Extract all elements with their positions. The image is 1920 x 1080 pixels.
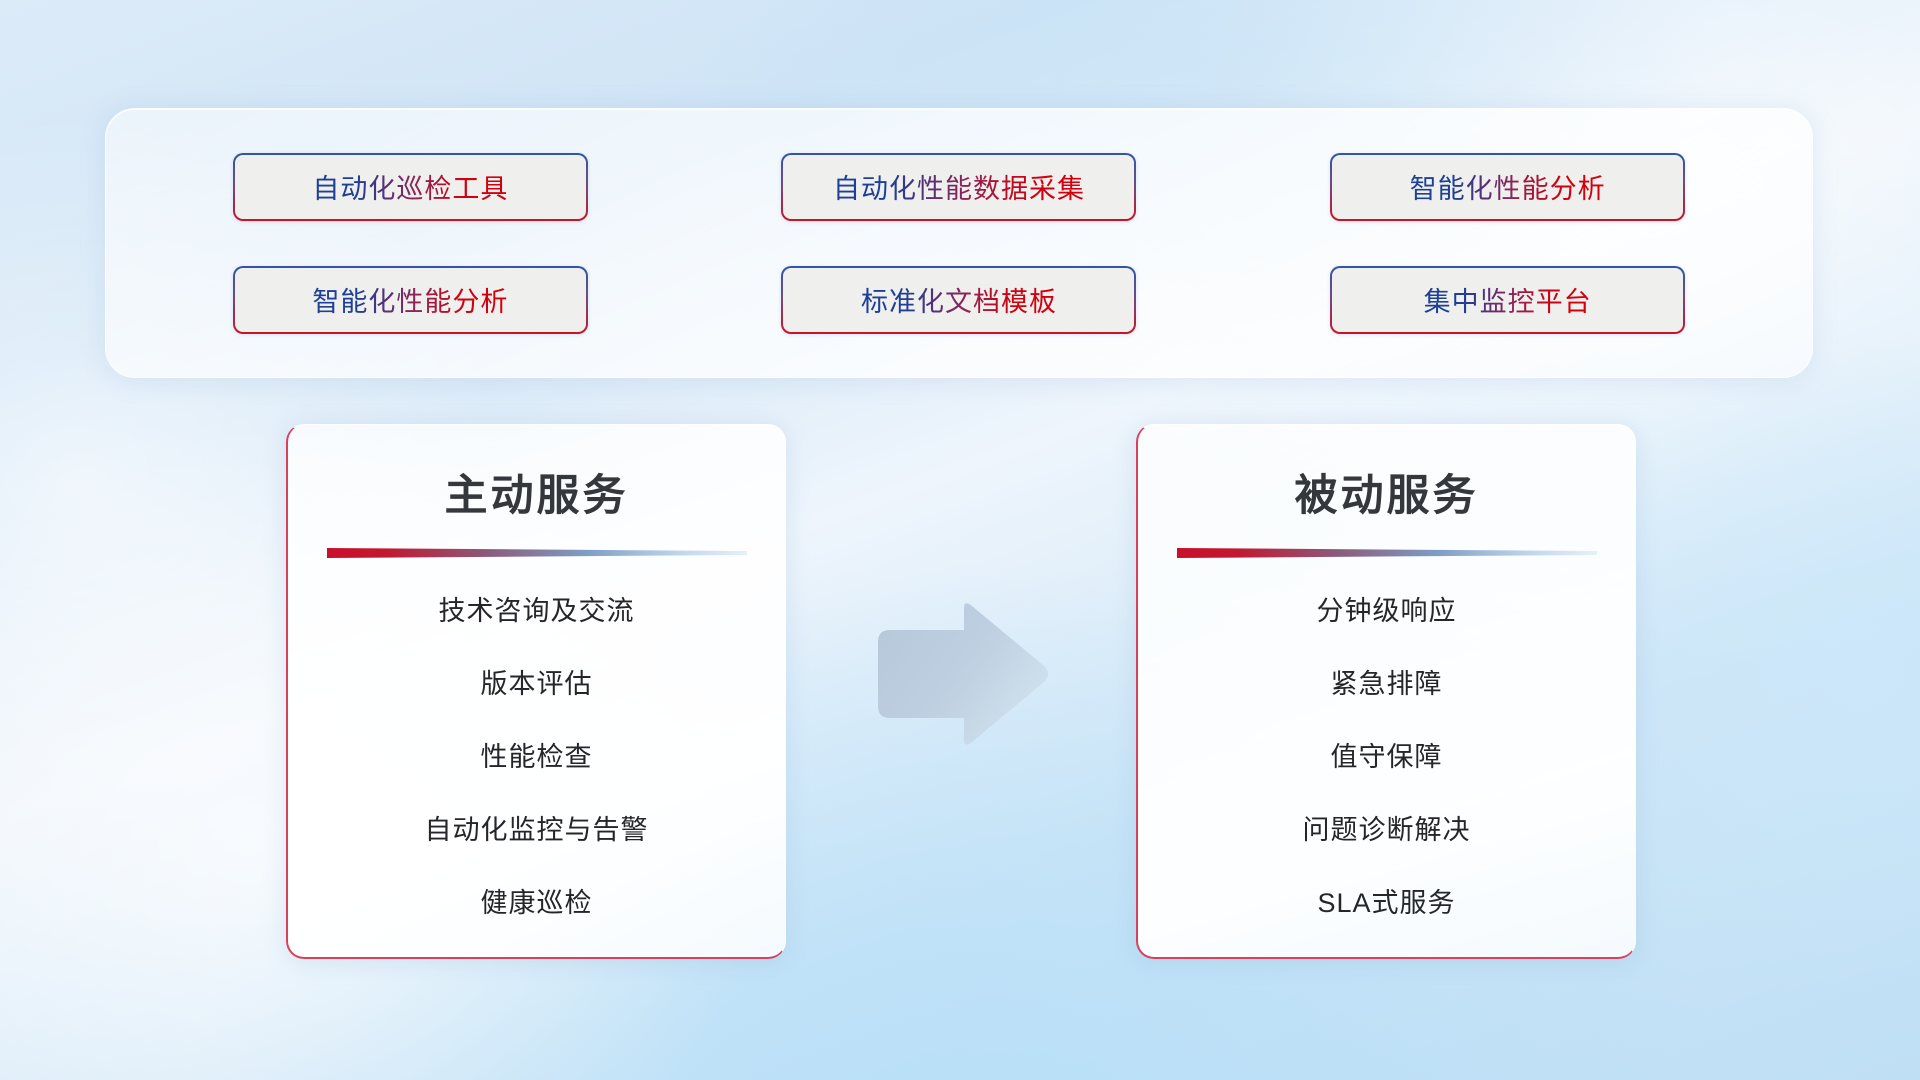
service-list-item: 值守保障 — [1331, 735, 1443, 774]
service-card-passive: 被动服务 分钟级响应 紧急排障 值守保障 问题诊断解决 SLA式服务 — [1136, 424, 1636, 959]
capability-panel: 自动化巡检工具 自动化性能数据采集 智能化性能分析 智能化性能分析 标准化文档模… — [105, 108, 1813, 378]
title-divider — [1177, 547, 1597, 559]
capability-pill-label: 自动化巡检工具 — [312, 167, 508, 206]
capability-pill-label: 自动化性能数据采集 — [833, 167, 1085, 206]
right-arrow-icon — [872, 600, 1052, 750]
capability-pill[interactable]: 自动化性能数据采集 — [781, 153, 1136, 221]
capability-pill[interactable]: 智能化性能分析 — [1330, 153, 1685, 221]
service-list-item: 健康巡检 — [481, 881, 593, 920]
service-card-title: 主动服务 — [288, 461, 785, 523]
capability-pill[interactable]: 自动化巡检工具 — [233, 153, 588, 221]
service-list-item: 技术咨询及交流 — [439, 589, 635, 628]
capability-pill[interactable]: 智能化性能分析 — [233, 266, 588, 334]
service-item-list: 技术咨询及交流 版本评估 性能检查 自动化监控与告警 健康巡检 — [288, 589, 785, 920]
capability-pill-grid: 自动化巡检工具 自动化性能数据采集 智能化性能分析 智能化性能分析 标准化文档模… — [106, 109, 1812, 377]
capability-pill-inner: 自动化巡检工具 — [235, 155, 586, 219]
service-list-item: 版本评估 — [481, 662, 593, 701]
capability-pill-inner: 标准化文档模板 — [783, 268, 1134, 332]
service-card-title: 被动服务 — [1138, 461, 1635, 523]
capability-pill-inner: 自动化性能数据采集 — [783, 155, 1134, 219]
capability-pill-inner: 集中监控平台 — [1332, 268, 1683, 332]
title-divider — [327, 547, 747, 559]
capability-pill[interactable]: 集中监控平台 — [1330, 266, 1685, 334]
capability-pill-label: 智能化性能分析 — [312, 280, 508, 319]
capability-pill-label: 标准化文档模板 — [861, 280, 1057, 319]
service-list-item: 自动化监控与告警 — [425, 808, 649, 847]
service-list-item: 问题诊断解决 — [1303, 808, 1471, 847]
service-list-item: 紧急排障 — [1331, 662, 1443, 701]
capability-pill-inner: 智能化性能分析 — [1332, 155, 1683, 219]
capability-pill[interactable]: 标准化文档模板 — [781, 266, 1136, 334]
capability-pill-inner: 智能化性能分析 — [235, 268, 586, 332]
service-list-item: 分钟级响应 — [1317, 589, 1457, 628]
service-item-list: 分钟级响应 紧急排障 值守保障 问题诊断解决 SLA式服务 — [1138, 589, 1635, 920]
service-card-active: 主动服务 技术咨询及交流 版本评估 性能检查 自动化监控与告警 健康巡检 — [286, 424, 786, 959]
service-list-item: 性能检查 — [481, 735, 593, 774]
service-list-item: SLA式服务 — [1317, 881, 1455, 920]
capability-pill-label: 智能化性能分析 — [1410, 167, 1606, 206]
capability-pill-label: 集中监控平台 — [1424, 280, 1592, 319]
